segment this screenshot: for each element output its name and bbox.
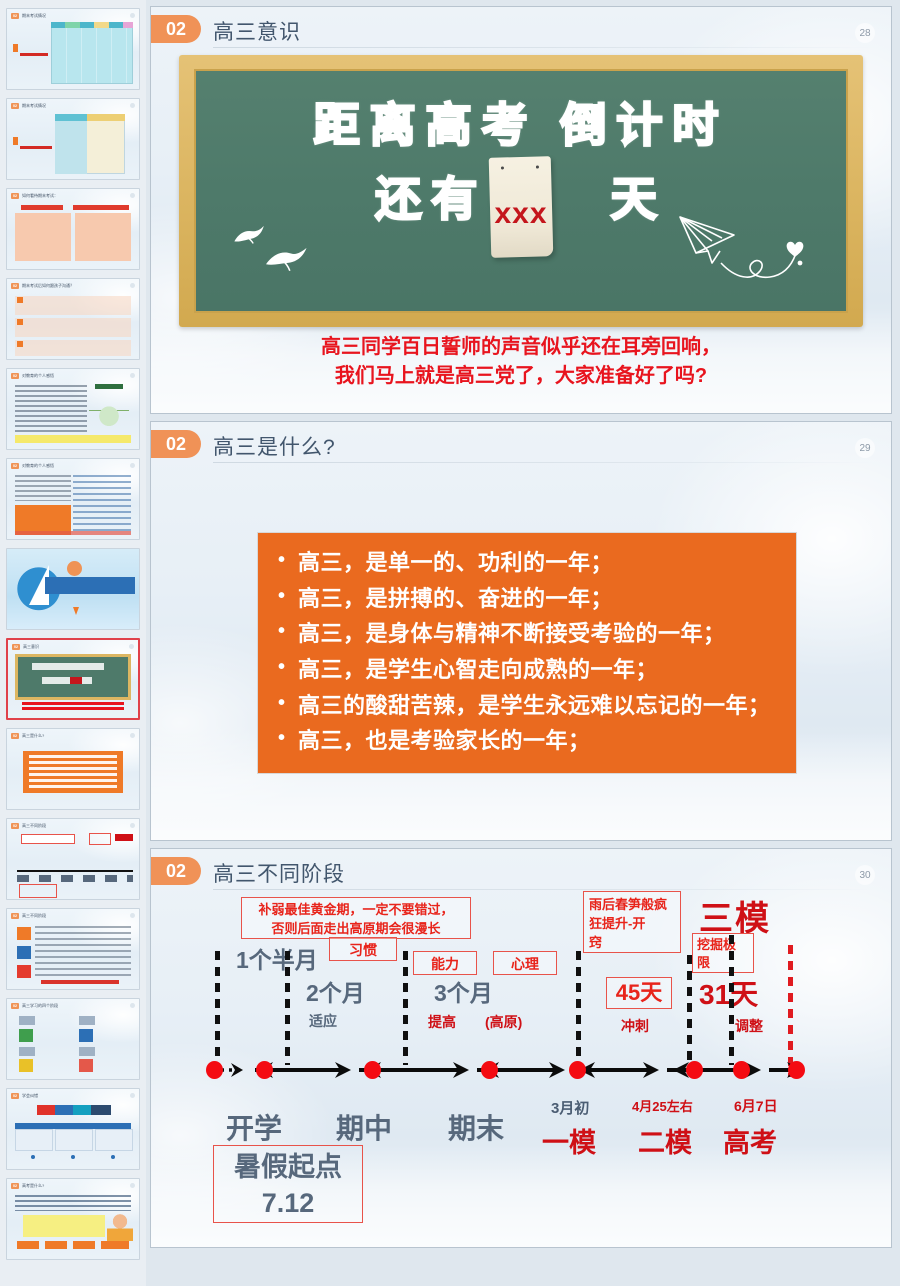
caption-line-1: 高三同学百日誓师的声音似乎还在耳旁回响， xyxy=(151,333,891,362)
summer-start-label: 暑假起点 xyxy=(214,1149,362,1185)
callout-dig-limit: 挖掘极 限 xyxy=(692,933,754,973)
thumb-exam-text xyxy=(35,926,131,980)
thumb-quadrant-4-chip xyxy=(79,1059,93,1072)
slide-28-chalkboard[interactable]: 02 高三意识 28 距离高考 倒计时 还有 天 xyxy=(150,6,892,414)
thumb-table-header xyxy=(55,114,125,121)
slide-29-what-is-senior-year[interactable]: 02 高三是什么? 29 高三，是单一的、功利的一年； 高三，是拼搏的、奋进的一… xyxy=(150,421,892,841)
thumbnail-badge: 02 xyxy=(11,1093,19,1099)
callout-rapid-improvement: 雨后春笋般疯 狂提升-开 窍 xyxy=(583,891,681,953)
callout-golden-period-line-2: 否则后面走出高原期会很漫长 xyxy=(242,919,470,938)
timeline-dot-5 xyxy=(569,1061,586,1079)
thumb-bamboo-label xyxy=(95,384,123,389)
header-divider xyxy=(213,462,873,463)
slide-title: 高三是什么? xyxy=(213,431,336,461)
thumbnail-header: 02 高三意识 xyxy=(12,643,134,651)
thumb-marker xyxy=(13,137,18,145)
thumbnail-badge: 02 xyxy=(11,463,19,469)
thumbnail-corner-dot xyxy=(130,1183,135,1188)
thumb-bamboo-illustration xyxy=(89,391,129,433)
thumb-gaokao-paragraph xyxy=(15,1195,131,1211)
thumbnail-title: 高三意识 xyxy=(23,644,39,650)
callout-dig-limit-line-2: 限 xyxy=(697,954,749,972)
thumb-jiucuo-dot-1 xyxy=(31,1155,35,1159)
divider-dash-5 xyxy=(687,955,692,1065)
list-item: 高三，是拼搏的、奋进的一年； xyxy=(276,581,778,617)
thumbnail-badge: 02 xyxy=(11,103,19,109)
thumbnail-badge: 02 xyxy=(11,373,19,379)
thumbnail-header: 02 高三不同阶段 xyxy=(11,912,135,920)
divider-dash-6 xyxy=(729,935,734,1065)
thumb-quadrant-1-chip xyxy=(19,1029,33,1042)
thumbnail-header: 02 期末考试情况 xyxy=(11,102,135,110)
label-duration-2: 2个月 xyxy=(306,974,365,1008)
caption-line-2: 我们马上就是高三党了，大家准备好了吗? xyxy=(151,362,891,391)
thumbnail-corner-dot xyxy=(130,283,135,288)
thumb-tip-2 xyxy=(15,318,131,337)
app-root: 02 期末考试情况 02 期末考试情况 xyxy=(0,0,900,1286)
thumb-cover-band xyxy=(45,577,135,594)
slide-header: 02 高三是什么? 29 xyxy=(151,422,891,466)
callout-golden-period: 补弱最佳黄金期，一定不要错过， 否则后面走出高原期会很漫长 xyxy=(241,897,471,939)
page-number: 28 xyxy=(855,23,875,43)
thumb-panel-right xyxy=(75,213,131,261)
thumbnail-corner-dot xyxy=(130,1003,135,1008)
label-duration-3: 3个月 xyxy=(434,974,493,1008)
thumb-board-text-1 xyxy=(32,663,104,670)
thumbnail-corner-dot xyxy=(130,13,135,18)
timeline-dot-6 xyxy=(686,1061,703,1079)
thumb-heading-right xyxy=(73,205,129,210)
thumbnail-title: 期末考试情况 xyxy=(22,103,46,109)
thumb-callout xyxy=(21,834,75,844)
thumbnail-badge: 02 xyxy=(11,193,19,199)
tag-habit: 习惯 xyxy=(329,937,397,961)
thumb-axis xyxy=(17,870,133,872)
chalkboard-surface: 距离高考 倒计时 还有 天 xxx xyxy=(194,69,848,313)
thumb-gaokao-chips xyxy=(17,1241,129,1249)
thumbnail-header: 02 对教育的个人感悟 xyxy=(11,462,135,470)
thumb-bullet-lines xyxy=(29,755,117,789)
sublabel-sprint: 冲刺 xyxy=(621,1016,649,1036)
thumb-left-paragraph xyxy=(15,475,71,501)
thumb-paragraph xyxy=(15,385,87,433)
thumbnail-title: 高三学习的四个阶段 xyxy=(22,1003,58,1009)
chalkboard-line-2-right: 天 xyxy=(611,173,667,225)
divider-dash-2 xyxy=(285,951,290,1065)
slide-thumbnail-2[interactable]: 02 期末考试情况 xyxy=(6,98,140,180)
thumb-exam-tag-3 xyxy=(17,965,31,978)
slide-thumbnail-sidebar[interactable]: 02 期末考试情况 02 期末考试情况 xyxy=(0,0,146,1286)
slide-30-phases-timeline[interactable]: 02 高三不同阶段 30 补弱最佳黄金期，一定不要错过， 否则后面走出高原期会很… xyxy=(150,848,892,1248)
timeline-dot-1 xyxy=(206,1061,223,1079)
chalkboard-line-1: 距离高考 倒计时 xyxy=(196,89,846,155)
milestone-kaixue: 开学 xyxy=(226,1107,282,1147)
thumb-quadrant-3-label xyxy=(19,1047,35,1056)
thumb-board-text-2 xyxy=(42,677,92,684)
thumbnail-title: 期末考试情况 xyxy=(22,13,46,19)
thumb-quadrant-3-chip xyxy=(19,1059,33,1072)
thumb-table-col xyxy=(55,114,87,174)
chalkboard-frame: 距离高考 倒计时 还有 天 xxx xyxy=(179,55,863,327)
thumbnail-corner-dot xyxy=(129,644,134,649)
callout-rapid-line-2: 狂提升-开 xyxy=(589,914,675,933)
thumb-quadrant-1-label xyxy=(19,1016,35,1025)
label-duration-1: 1个半月 xyxy=(236,941,318,975)
thumbnail-title: 学会纠错 xyxy=(22,1093,38,1099)
milestone-gaokao: 高考 xyxy=(723,1121,777,1160)
section-badge: 02 xyxy=(151,15,201,43)
thumb-arrow xyxy=(20,53,48,56)
thumbnail-badge: 02 xyxy=(11,1183,19,1189)
thumb-exam-tag-1 xyxy=(17,927,31,940)
thumb-callout-right xyxy=(89,833,111,845)
thumb-jiucuo-card-2 xyxy=(55,1129,93,1151)
slide-thumbnail-7[interactable] xyxy=(6,548,140,630)
thumb-board-xxx xyxy=(70,677,82,684)
thumb-tip-1 xyxy=(15,296,131,315)
thumb-gaokao-student-icon xyxy=(107,1213,133,1241)
slide-thumbnail-9[interactable]: 02 高三是什么? xyxy=(6,728,140,810)
thumb-tip-icon-2 xyxy=(17,319,23,325)
timeline-dot-2 xyxy=(256,1061,273,1079)
thumbnail-header: 02 高三学习的四个阶段 xyxy=(11,1002,135,1010)
label-45-days: 45天 xyxy=(606,977,672,1009)
slide-thumbnail-4[interactable]: 02 期末考试后如何跟孩子沟通？ xyxy=(6,278,140,360)
thumb-table xyxy=(51,22,133,84)
timeline-dot-3 xyxy=(364,1061,381,1079)
thumb-sanmo xyxy=(115,834,133,841)
thumbnail-corner-dot xyxy=(130,103,135,108)
chalkboard-line-2-left: 还有 xyxy=(375,173,487,225)
slide-title: 高三意识 xyxy=(213,16,301,46)
thumbnail-title: 如何看待期末考试： xyxy=(22,193,58,199)
thumb-panel-left xyxy=(15,213,71,261)
thumb-exam-footer xyxy=(41,980,119,984)
thumbnail-corner-dot xyxy=(130,823,135,828)
thumbnail-corner-dot xyxy=(130,193,135,198)
summer-start-box: 暑假起点 7.12 xyxy=(213,1145,363,1223)
slide-thumbnail-12[interactable]: 02 高三学习的四个阶段 xyxy=(6,998,140,1080)
list-item: 高三，是学生心智走向成熟的一年； xyxy=(276,652,778,688)
thumbnail-corner-dot xyxy=(130,373,135,378)
thumbnail-title: 期末考试后如何跟孩子沟通？ xyxy=(22,283,74,289)
thumbnail-title: 对教育的个人感悟 xyxy=(22,373,54,379)
thumb-quadrant-4-label xyxy=(79,1047,95,1056)
paper-plane-icon xyxy=(674,207,824,302)
thumb-jiucuo-dot-3 xyxy=(111,1155,115,1159)
sublabel-adapt: 适应 xyxy=(309,1011,337,1031)
list-item: 高三，是单一的、功利的一年； xyxy=(276,545,778,581)
thumbnail-corner-dot xyxy=(130,1093,135,1098)
slide-view-area: 02 高三意识 28 距离高考 倒计时 还有 天 xyxy=(146,0,900,1286)
list-item: 高三的酸甜苦辣，是学生永远难以忘记的一年； xyxy=(276,688,778,724)
countdown-days-value: xxx xyxy=(494,197,547,231)
list-item: 高三，是身体与精神不断接受考验的一年； xyxy=(276,616,778,652)
note-pin-left-icon xyxy=(501,166,504,169)
thumbnail-corner-dot xyxy=(130,463,135,468)
slide-thumbnail-14[interactable]: 02 高考是什么? xyxy=(6,1178,140,1260)
thumbnail-badge: 02 xyxy=(12,644,20,650)
thumbnail-header: 02 对教育的个人感悟 xyxy=(11,372,135,380)
slide-thumbnail-8-active[interactable]: 02 高三意识 xyxy=(6,638,140,720)
divider-dash-4 xyxy=(576,951,581,1065)
milestone-ermo: 二模 xyxy=(638,1121,692,1160)
thumbnail-title: 高考是什么? xyxy=(22,1183,44,1189)
callout-golden-period-line-1: 补弱最佳黄金期，一定不要错过， xyxy=(242,900,470,919)
thumbnail-badge: 02 xyxy=(11,1003,19,1009)
thumbnail-header: 02 高考是什么? xyxy=(11,1182,135,1190)
thumbnail-title: 高三是什么? xyxy=(22,733,44,739)
slide-thumbnail-11[interactable]: 02 高三不同阶段 xyxy=(6,908,140,990)
slide-thumbnail-10[interactable]: 02 高三不同阶段 xyxy=(6,818,140,900)
timeline-dot-4 xyxy=(481,1061,498,1079)
thumb-heading-left xyxy=(21,205,63,210)
tag-psychology: 心理 xyxy=(493,951,557,975)
thumb-jiucuo-heading xyxy=(37,1105,111,1115)
milestone-date-april25: 4月25左右 xyxy=(632,1096,693,1115)
timeline-axis xyxy=(191,1053,811,1087)
milestone-date-june7: 6月7日 xyxy=(734,1096,778,1116)
bullet-list-box: 高三，是单一的、功利的一年； 高三，是拼搏的、奋进的一年； 高三，是身体与精神不… xyxy=(257,532,797,774)
thumbnail-badge: 02 xyxy=(11,913,19,919)
milestone-qizhong: 期中 xyxy=(336,1107,392,1147)
callout-rapid-line-3: 窍 xyxy=(589,933,675,952)
slide-thumbnail-3[interactable]: 02 如何看待期末考试： xyxy=(6,188,140,270)
thumb-marks xyxy=(17,875,133,882)
thumbnail-badge: 02 xyxy=(11,283,19,289)
thumb-tip-icon-3 xyxy=(17,341,23,347)
tag-ability: 能力 xyxy=(413,951,477,975)
sublabel-improve: 提高 xyxy=(428,1012,456,1032)
header-divider xyxy=(213,47,873,48)
thumbnail-header: 02 期末考试情况 xyxy=(11,12,135,20)
bullet-list: 高三，是单一的、功利的一年； 高三，是拼搏的、奋进的一年； 高三，是身体与精神不… xyxy=(276,545,778,759)
thumb-tip-3 xyxy=(15,340,131,356)
thumb-tip-icon-1 xyxy=(17,297,23,303)
slide-thumbnail-5[interactable]: 02 对教育的个人感悟 xyxy=(6,368,140,450)
thumb-arrow xyxy=(20,146,52,149)
thumbnail-corner-dot xyxy=(130,733,135,738)
slide-thumbnail-1[interactable]: 02 期末考试情况 xyxy=(6,8,140,90)
thumbnail-badge: 02 xyxy=(11,823,19,829)
timeline-diagram: 补弱最佳黄金期，一定不要错过， 否则后面走出高原期会很漫长 雨后春笋般疯 狂提升… xyxy=(151,849,891,1247)
page-number: 29 xyxy=(855,438,875,458)
thumbnail-header: 02 高三是什么? xyxy=(11,732,135,740)
sublabel-adjust: 调整 xyxy=(735,1016,763,1036)
divider-dash-1 xyxy=(215,951,220,1065)
thumbnail-corner-dot xyxy=(130,913,135,918)
divider-dash-3 xyxy=(403,951,408,1065)
section-badge: 02 xyxy=(151,430,201,458)
thumb-table-header xyxy=(51,22,133,28)
thumb-exam-tag-2 xyxy=(17,946,31,959)
thumbnail-title: 对教育的个人感悟 xyxy=(22,463,54,469)
thumbnail-title: 高三不同阶段 xyxy=(22,823,46,829)
thumb-cover-badge xyxy=(67,561,82,576)
thumb-jiucuo-card-3 xyxy=(95,1129,133,1151)
thumbnail-badge: 02 xyxy=(11,13,19,19)
milestone-date-march: 3月初 xyxy=(551,1097,589,1118)
timeline-dot-8 xyxy=(788,1061,805,1079)
thumbnail-header: 02 高三不同阶段 xyxy=(11,822,135,830)
slide-thumbnail-13[interactable]: 02 学会纠错 xyxy=(6,1088,140,1170)
slide-caption: 高三同学百日誓师的声音似乎还在耳旁回响， 我们马上就是高三党了，大家准备好了吗? xyxy=(151,333,891,391)
slide-header: 02 高三意识 28 xyxy=(151,7,891,51)
thumb-caption xyxy=(22,702,124,711)
thumb-marker xyxy=(13,44,18,52)
thumb-start-box xyxy=(19,884,57,898)
slide-thumbnail-6[interactable]: 02 对教育的个人感悟 xyxy=(6,458,140,540)
thumb-jiucuo-card-1 xyxy=(15,1129,53,1151)
callout-rapid-line-1: 雨后春笋般疯 xyxy=(589,895,675,914)
list-item: 高三，也是考验家长的一年； xyxy=(276,723,778,759)
timeline-dot-7 xyxy=(733,1061,750,1079)
thumbnail-title: 高三不同阶段 xyxy=(22,913,46,919)
thumb-right-list xyxy=(73,475,131,533)
thumbnail-header: 02 学会纠错 xyxy=(11,1092,135,1100)
milestone-yimo: 一模 xyxy=(542,1121,596,1160)
note-pin-right-icon xyxy=(536,166,539,169)
sublabel-plateau: (高原) xyxy=(485,1012,522,1032)
callout-dig-limit-line-1: 挖掘极 xyxy=(697,936,749,954)
thumb-quadrant-2-label xyxy=(79,1016,95,1025)
dove-icon-2 xyxy=(262,245,311,282)
thumb-jiucuo-dot-2 xyxy=(71,1155,75,1159)
thumb-highlight-band xyxy=(15,435,131,443)
thumb-footer-note xyxy=(15,531,131,535)
thumbnail-header: 02 如何看待期末考试： xyxy=(11,192,135,200)
thumb-quadrant-2-chip xyxy=(79,1029,93,1042)
milestone-qimo: 期末 xyxy=(448,1107,504,1147)
thumbnail-badge: 02 xyxy=(11,733,19,739)
thumbnail-header: 02 期末考试后如何跟孩子沟通？ xyxy=(11,282,135,290)
thumb-gaokao-yellow xyxy=(23,1215,105,1237)
summer-start-date: 7.12 xyxy=(214,1185,362,1221)
